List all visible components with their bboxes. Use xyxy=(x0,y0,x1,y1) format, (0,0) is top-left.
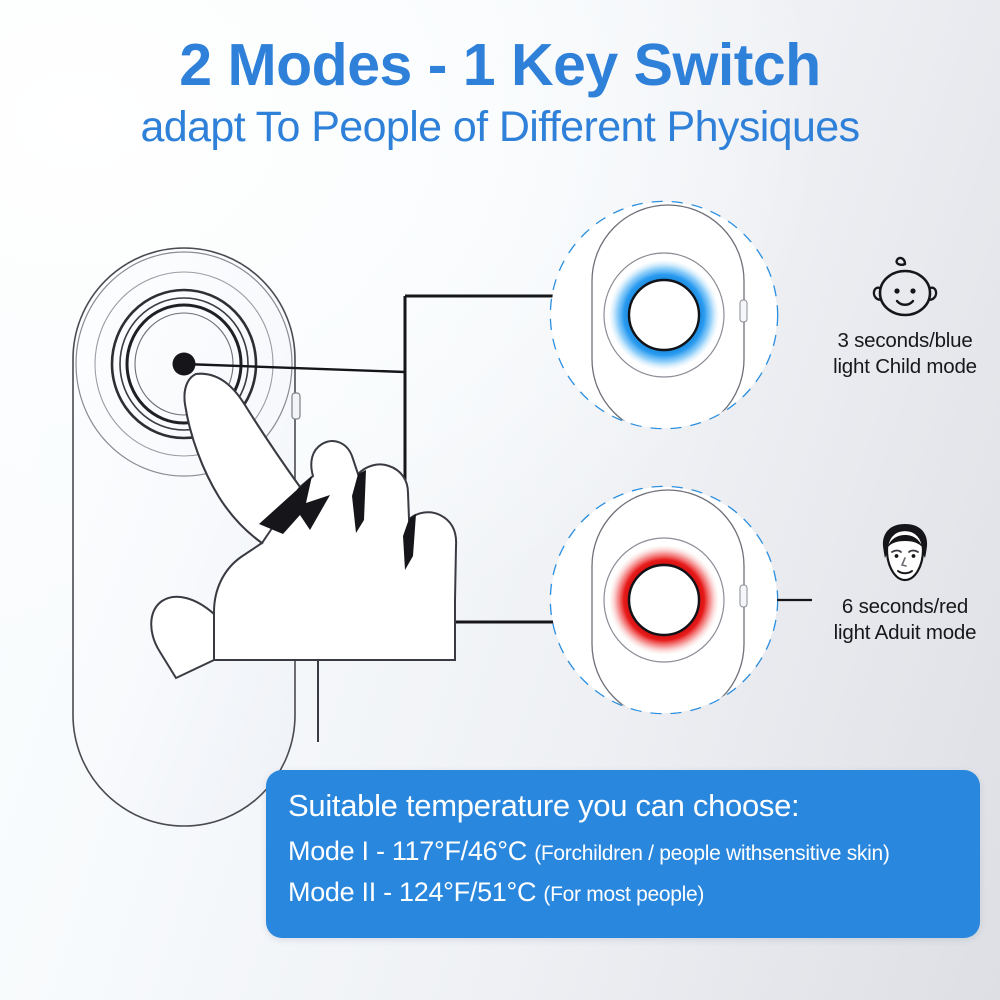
mode2-note-text: (For most people) xyxy=(543,883,704,906)
heading-group: 2 Modes - 1 Key Switch adapt To People o… xyxy=(0,34,1000,151)
mode1-note-text: (Forchildren / people withsensitive skin… xyxy=(534,842,889,865)
child-mode-label-block: 3 seconds/blue light Child mode xyxy=(805,252,1000,380)
adult-mode-label-line2: light Aduit mode xyxy=(805,620,1000,646)
adult-mode-label-block: 6 seconds/red light Aduit mode xyxy=(805,518,1000,646)
mode2-main-text: Mode II - 124°F/51°C xyxy=(288,877,543,907)
button-press-marker xyxy=(173,353,196,376)
child-mode-label-line1: 3 seconds/blue xyxy=(805,328,1000,354)
baby-face-icon xyxy=(865,252,945,324)
temperature-info-panel: Suitable temperature you can choose: Mod… xyxy=(266,770,980,938)
page-subtitle: adapt To People of Different Physiques xyxy=(0,104,1000,151)
child-mode-label-line2: light Child mode xyxy=(805,354,1000,380)
adult-face-icon xyxy=(865,518,945,590)
mode1-main-text: Mode I - 117°F/46°C xyxy=(288,836,534,866)
adult-mode-closeup xyxy=(551,487,777,720)
info-panel-mode2: Mode II - 124°F/51°C (For most people) xyxy=(288,879,980,906)
info-panel-heading: Suitable temperature you can choose: xyxy=(288,790,980,821)
page-title: 2 Modes - 1 Key Switch xyxy=(0,34,1000,98)
info-panel-mode1: Mode I - 117°F/46°C (Forchildren / peopl… xyxy=(288,838,980,865)
adult-mode-label-line1: 6 seconds/red xyxy=(805,594,1000,620)
infographic-page: 2 Modes - 1 Key Switch adapt To People o… xyxy=(0,0,1000,1000)
child-mode-closeup xyxy=(551,202,777,435)
